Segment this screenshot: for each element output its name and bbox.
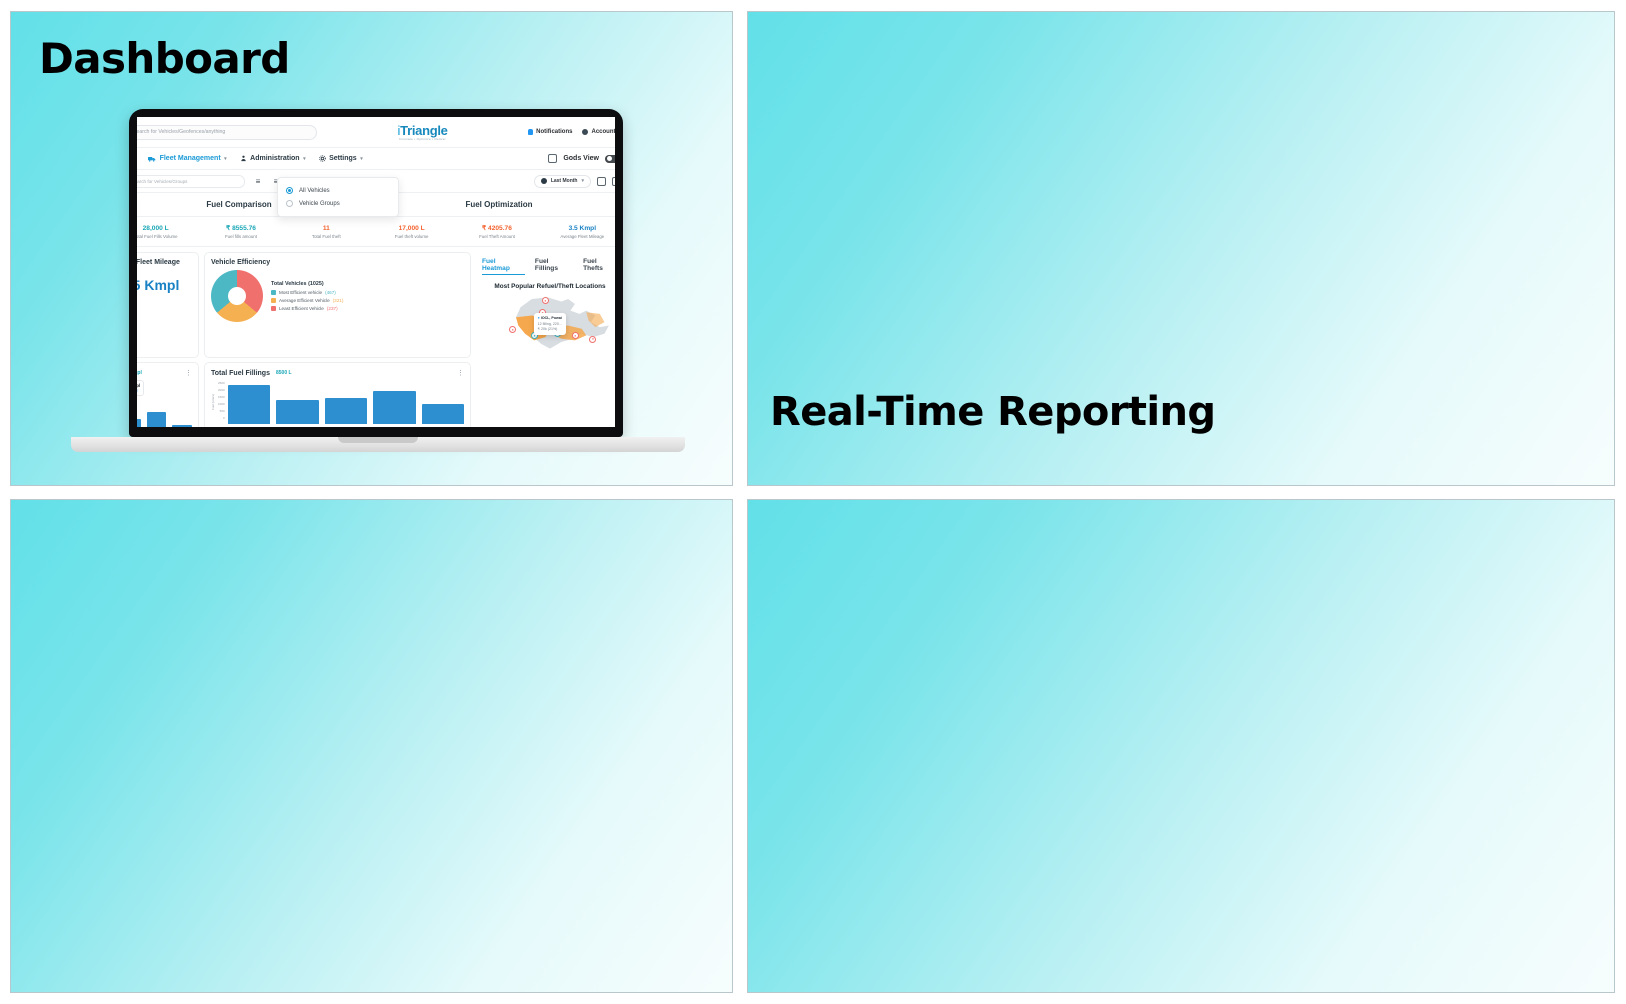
dashboard-app: Search for Vehicles/Geofences/anything i… xyxy=(137,117,615,427)
card-avg-fleet-mileage: Avg Fleet Mileage 3.5 Kmpl 10 % ↑ xyxy=(137,252,199,358)
gear-icon xyxy=(319,155,326,162)
dropdown-option-vehicle-groups[interactable]: Vehicle Groups xyxy=(286,197,390,210)
filter-icon-1[interactable]: ≡ xyxy=(253,176,263,186)
app-topbar: Search for Vehicles/Geofences/anything i… xyxy=(137,117,615,147)
radio-unselected-icon xyxy=(286,200,293,207)
mileage-tooltip: 6 Kmpl20 % ↑ xyxy=(137,380,144,396)
global-search-input[interactable]: Search for Vehicles/Geofences/anything xyxy=(137,125,317,140)
kpi-item: ₹ 8555.76Fuel fills amount xyxy=(198,224,283,239)
page-title-dashboard: Dashboard xyxy=(39,34,290,83)
kpi-item: 17,000 LFuel theft volume xyxy=(369,225,454,239)
page-title-reporting: Real-Time Reporting xyxy=(770,389,1215,436)
avg-mileage-delta: 10 % ↑ xyxy=(137,302,192,308)
dropdown-option-all-vehicles[interactable]: All Vehicles xyxy=(286,184,390,197)
y-axis-label: Fuel (Liters) xyxy=(211,380,215,424)
brand-tagline: Innovate • Optimize • Deliver xyxy=(398,138,448,141)
nav-item-administration[interactable]: Administration▾ xyxy=(240,155,306,162)
tab-fuel-thefts[interactable]: Fuel Thefts xyxy=(583,258,615,275)
mileage-badge: 3.5 Kmpl xyxy=(137,370,142,376)
legend-item: Least Efficient Vehicle(237) xyxy=(271,306,343,311)
panel-dashboard: Dashboard Search for Vehicles/Geofences/… xyxy=(10,11,733,486)
more-options-icon[interactable]: ⋮ xyxy=(185,369,192,377)
panel-proactive-maintenance: Proactive Maintenance xyxy=(747,499,1615,993)
mileage-bar-chart xyxy=(137,399,192,427)
legend-item: Most Efficient vehicle(467) xyxy=(271,290,343,295)
y-axis-ticks: 25002000150010005000 xyxy=(218,380,225,424)
tab-fuel-fillings[interactable]: Fuel Fillings xyxy=(535,258,573,275)
brand-logo: iTriangle Innovate • Optimize • Deliver xyxy=(398,124,448,141)
vehicle-scope-dropdown[interactable]: All Vehicles Vehicle Groups xyxy=(277,177,399,217)
chevron-down-icon: ▾ xyxy=(224,156,227,162)
main-nav: tics▾ Fleet Management▾ Administration▾ xyxy=(137,147,615,170)
map-tooltip: ● IOCL, Powai 12 filling, 220... ₹ 20k (… xyxy=(534,313,566,335)
truck-icon xyxy=(148,156,156,162)
india-heatmap[interactable]: ● ● ● ● ● ● ● ● IOCL, Powai 12 fi xyxy=(482,294,615,352)
nav-item-settings[interactable]: Settings▾ xyxy=(319,155,363,162)
card-mileage-chart: 3.5 Kmpl ⋮ 6 Kmpl20 % ↑ xyxy=(137,362,199,427)
gods-view-toggle[interactable] xyxy=(605,155,615,163)
notifications-button[interactable]: Notifications xyxy=(528,129,572,135)
card-fuel-heatmap: Fuel Heatmap Fuel Fillings Fuel Thefts M… xyxy=(476,252,615,358)
chevron-down-icon: ▾ xyxy=(303,156,306,162)
card-total-fuel-fillings: Total Fuel Fillings 8500 L ⋮ Fuel (Liter… xyxy=(204,362,471,427)
cards-row-1: Avg Fleet Mileage 3.5 Kmpl 10 % ↑ Vehicl… xyxy=(137,247,615,358)
account-label: Account xyxy=(591,129,615,135)
cards-row-2: 3.5 Kmpl ⋮ 6 Kmpl20 % ↑ xyxy=(137,358,615,427)
panel-data-collection: Data Collection xyxy=(10,499,733,993)
panel-real-time-reporting: Real-Time Reporting iTriangle Create • O… xyxy=(747,11,1615,486)
topbar-right: Notifications Account ▾ xyxy=(528,129,615,135)
fillings-badge: 8500 L xyxy=(276,370,292,376)
bell-icon xyxy=(528,129,533,135)
export-icon-1[interactable] xyxy=(597,177,606,186)
nav-item-fleet-management[interactable]: Fleet Management▾ xyxy=(148,155,227,162)
global-search-placeholder: Search for Vehicles/Geofences/anything xyxy=(137,129,225,135)
people-icon xyxy=(240,155,247,162)
avg-mileage-value: 3.5 Kmpl xyxy=(137,277,192,293)
filter-right: Last Month ▾ xyxy=(534,175,615,188)
export-icon-2[interactable] xyxy=(612,177,615,186)
date-range-select[interactable]: Last Month ▾ xyxy=(534,175,591,188)
kpi-item: 28,000 LTotal Fuel Fills Volume xyxy=(137,225,198,239)
tab-fuel-optimization[interactable]: Fuel Optimization xyxy=(369,200,615,209)
chevron-down-icon: ▾ xyxy=(581,178,584,184)
gods-view-label: Gods View xyxy=(563,155,599,162)
tab-fuel-heatmap[interactable]: Fuel Heatmap xyxy=(482,258,525,275)
efficiency-legend: Total Vehicles (1025) Most Efficient veh… xyxy=(271,281,343,311)
efficiency-donut-chart xyxy=(211,270,263,322)
kpi-item: 11Total Fuel theft xyxy=(284,225,369,239)
more-options-icon[interactable]: ⋮ xyxy=(457,369,464,377)
vehicle-search-input[interactable]: Search for Vehicles/Groups xyxy=(137,175,245,188)
person-icon xyxy=(582,129,588,135)
laptop-mockup-dashboard: Search for Vehicles/Geofences/anything i… xyxy=(71,109,685,452)
feature-grid: Dashboard Search for Vehicles/Geofences/… xyxy=(0,0,1626,1004)
heatmap-subtitle: Most Popular Refuel/Theft Locations xyxy=(482,283,615,290)
legend-item: Average Efficient Vehicle(321) xyxy=(271,298,343,303)
kpi-row: 28,000 LTotal Fuel Fills Volume ₹ 8555.7… xyxy=(137,217,615,247)
laptop-screen: Search for Vehicles/Geofences/anything i… xyxy=(137,117,615,427)
notifications-label: Notifications xyxy=(536,129,572,135)
laptop-lid: Search for Vehicles/Geofences/anything i… xyxy=(129,109,623,437)
gods-view-icon xyxy=(548,154,557,163)
heatmap-tabs: Fuel Heatmap Fuel Fillings Fuel Thefts xyxy=(482,258,615,275)
fillings-bar-chart xyxy=(228,380,464,424)
card-vehicle-efficiency: Vehicle Efficiency Total Vehicles (1025) xyxy=(204,252,471,358)
radio-selected-icon xyxy=(286,187,293,194)
kpi-item: 3.5 KmplAverage Fleet Mileage xyxy=(540,225,615,239)
account-menu[interactable]: Account ▾ xyxy=(582,129,615,135)
kpi-item: ₹ 4205.76Fuel Theft Amount xyxy=(454,224,539,239)
nav-right: Gods View xyxy=(548,154,615,163)
laptop-base xyxy=(71,437,685,452)
chevron-down-icon: ▾ xyxy=(360,156,363,162)
clock-icon xyxy=(541,178,547,184)
